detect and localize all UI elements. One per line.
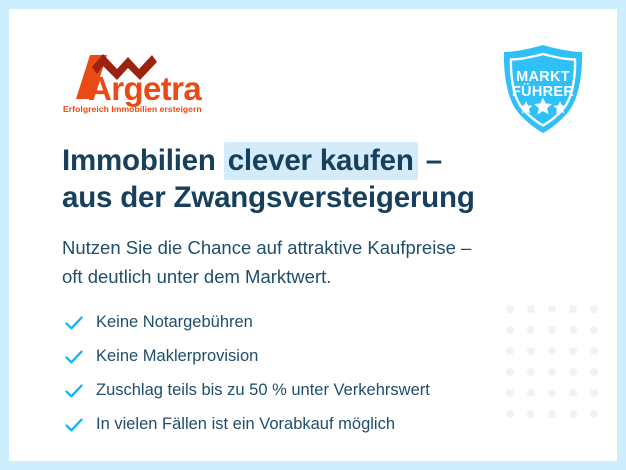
badge-line2: FÜHRER: [512, 83, 574, 100]
logo-tagline: Erfolgreich Immobilien ersteigern: [63, 104, 202, 114]
logo-wordmark: Argetra: [88, 70, 202, 107]
dot: [506, 368, 514, 376]
dot: [590, 305, 598, 313]
benefits-list: Keine Notargebühren Keine Maklerprovisio…: [64, 307, 430, 443]
page-title: Immobilien clever kaufen – aus der Zwang…: [62, 142, 562, 216]
list-item: Zuschlag teils bis zu 50 % unter Verkehr…: [64, 375, 430, 406]
list-item-label: Zuschlag teils bis zu 50 % unter Verkehr…: [96, 382, 430, 399]
dot: [548, 368, 556, 376]
headline-line-1: Immobilien clever kaufen –: [62, 142, 562, 179]
dot: [527, 347, 535, 355]
argetra-logo[interactable]: Argetra Erfolgreich Immobilien ersteiger…: [62, 53, 252, 115]
dot: [569, 410, 577, 418]
headline-line-2: aus der Zwangsversteigerung: [62, 179, 562, 216]
dot: [590, 410, 598, 418]
list-item-label: In vielen Fällen ist ein Vorabkauf mögli…: [96, 416, 395, 433]
dot: [548, 347, 556, 355]
dot: [527, 326, 535, 334]
dot: [506, 326, 514, 334]
dot: [506, 347, 514, 355]
badge-line1: MARKT: [516, 69, 570, 85]
dot: [590, 368, 598, 376]
dot: [506, 410, 514, 418]
dot: [590, 389, 598, 397]
dot: [590, 326, 598, 334]
dot: [527, 368, 535, 376]
list-item-label: Keine Notargebühren: [96, 314, 253, 331]
subheading-line-2: oft deutlich unter dem Marktwert.: [62, 262, 582, 291]
check-icon: [64, 381, 84, 401]
market-leader-badge: MARKT FÜHRER: [496, 43, 590, 135]
dot: [569, 326, 577, 334]
subheading-line-1: Nutzen Sie die Chance auf attraktive Kau…: [62, 233, 582, 262]
dot: [548, 389, 556, 397]
list-item-label: Keine Maklerprovision: [96, 348, 258, 365]
headline-pre: Immobilien: [62, 144, 224, 177]
dot: [527, 305, 535, 313]
dot: [527, 389, 535, 397]
dot: [569, 347, 577, 355]
dot: [569, 389, 577, 397]
dot-grid-decoration: [506, 305, 611, 431]
dot: [548, 305, 556, 313]
check-icon: [64, 347, 84, 367]
promo-banner: Argetra Erfolgreich Immobilien ersteiger…: [0, 0, 626, 470]
dot: [590, 347, 598, 355]
list-item: In vielen Fällen ist ein Vorabkauf mögli…: [64, 409, 430, 440]
dot: [527, 410, 535, 418]
list-item: Keine Maklerprovision: [64, 341, 430, 372]
check-icon: [64, 415, 84, 435]
check-icon: [64, 313, 84, 333]
dot: [506, 305, 514, 313]
dot: [548, 326, 556, 334]
dot: [548, 410, 556, 418]
dot: [569, 368, 577, 376]
dot: [506, 389, 514, 397]
subheading: Nutzen Sie die Chance auf attraktive Kau…: [62, 233, 582, 291]
headline-highlight: clever kaufen: [224, 142, 418, 180]
promo-card: Argetra Erfolgreich Immobilien ersteiger…: [9, 9, 617, 461]
dot: [569, 305, 577, 313]
headline-post: –: [418, 144, 442, 177]
list-item: Keine Notargebühren: [64, 307, 430, 338]
